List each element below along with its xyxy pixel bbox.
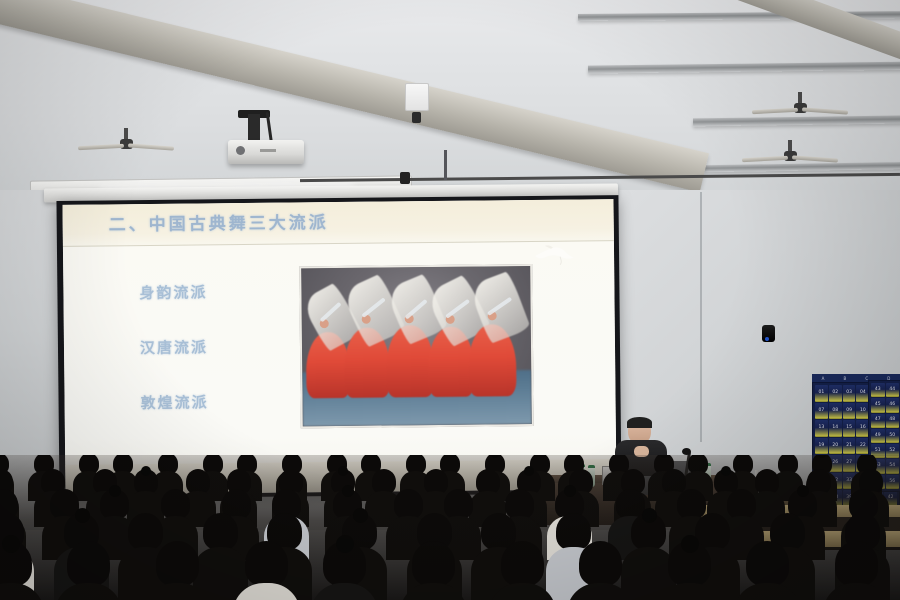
key-cabinet-cell[interactable]: 21 (843, 438, 856, 455)
projection-screen[interactable]: 二、中国古典舞三大流派 身韵流派 汉唐流派 敦煌流派 (56, 195, 621, 499)
key-cabinet-cell[interactable]: 46 (886, 398, 900, 412)
audience-person (579, 541, 622, 600)
ceiling-conduit (300, 173, 900, 182)
audience-person-bun (564, 485, 576, 497)
crane-graphic-icon (531, 242, 577, 268)
ceiling (0, 0, 900, 196)
audience-person (501, 541, 544, 600)
audience-person (746, 541, 789, 600)
key-cabinet-cell[interactable]: 20 (829, 438, 842, 455)
slide-bullet-list: 身韵流派 汉唐流派 敦煌流派 (139, 281, 209, 447)
key-cabinet-cell[interactable]: 13 (815, 420, 828, 437)
audience-person-head (161, 489, 190, 519)
audience-person (412, 541, 455, 600)
audience-person (156, 541, 199, 600)
key-cabinet-cell[interactable]: 03 (843, 385, 856, 402)
key-cabinet-cell[interactable]: 08 (829, 403, 842, 420)
audience-person-bun (342, 485, 354, 497)
slide-dance-photo (299, 264, 534, 428)
audience-person-bun (797, 485, 809, 497)
audience-person (835, 541, 878, 600)
audience-person (203, 513, 238, 600)
junction-box (405, 83, 429, 111)
key-cabinet-cell[interactable]: 14 (829, 420, 842, 437)
audience-person-bun (141, 466, 151, 476)
wall-mounted-speaker-icon (762, 325, 775, 342)
presentation-slide: 二、中国古典舞三大流派 身韵流派 汉唐流派 敦煌流派 (62, 199, 616, 495)
ceiling-conduit (444, 150, 447, 180)
audience-person-bun (109, 485, 121, 497)
key-cabinet-cell[interactable]: 09 (843, 403, 856, 420)
lecturer-hair (627, 417, 652, 428)
key-cabinet-cell[interactable]: 49 (871, 429, 885, 443)
slide-bullet-2: 汉唐流派 (140, 336, 208, 358)
audience-person-bun (338, 466, 348, 476)
projector-lens-icon (236, 146, 245, 155)
microphone-icon (682, 448, 691, 455)
wall-seam (700, 192, 702, 442)
diagonal-support-beam (0, 0, 709, 192)
audience-person (67, 541, 110, 600)
slide-bullet-1: 身韵流派 (139, 281, 207, 303)
audience-person-bun (75, 508, 90, 523)
audience-person-head (156, 541, 199, 586)
ceiling-mounted-projector (228, 140, 304, 164)
lecture-hall-scene: 二、中国古典舞三大流派 身韵流派 汉唐流派 敦煌流派 (0, 0, 900, 600)
projector-mount (248, 114, 260, 142)
audience-person (668, 541, 711, 600)
audience-person-head (727, 489, 756, 519)
key-cabinet-cell[interactable]: 15 (843, 420, 856, 437)
ceiling-beam (704, 151, 900, 172)
key-cabinet-cell[interactable]: 01 (815, 385, 828, 402)
key-cabinet-cell[interactable]: 50 (886, 429, 900, 443)
audience-person-bun (336, 535, 354, 553)
key-cabinet-cell[interactable]: 48 (886, 414, 900, 428)
key-cabinet-cell[interactable]: 44 (886, 383, 900, 397)
audience-person (0, 541, 32, 600)
key-cabinet-cell[interactable]: 47 (871, 414, 885, 428)
audience-person-head (412, 541, 455, 586)
audience-person (323, 541, 366, 600)
key-cabinet-cell[interactable]: 43 (871, 383, 885, 397)
audience-person-bun (2, 535, 20, 553)
conduit-fitting (400, 172, 410, 184)
audience-person-head (203, 513, 238, 550)
key-cabinet-cell[interactable]: 45 (871, 398, 885, 412)
key-cabinet-cell[interactable]: 07 (815, 403, 828, 420)
audience-person-head (501, 541, 544, 586)
audience-person (631, 513, 666, 600)
audience-person-head (835, 541, 878, 586)
audience-seating: YOUNG (0, 455, 900, 600)
audience-person-bun (642, 508, 657, 523)
audience-person-bun (353, 508, 368, 523)
audience-person-head (746, 541, 789, 586)
ceiling-sensor-icon (412, 112, 421, 123)
key-cabinet-cell[interactable]: 02 (829, 385, 842, 402)
key-cabinet-cell[interactable]: 19 (815, 438, 828, 455)
slide-title: 二、中国古典舞三大流派 (109, 208, 329, 235)
ceiling-beam (588, 54, 900, 73)
audience-person-head (67, 541, 110, 586)
audience-person (245, 541, 288, 600)
audience-person-bun (524, 466, 534, 476)
slide-bullet-3: 敦煌流派 (140, 391, 208, 413)
audience-person-bun (721, 466, 731, 476)
audience-person-head (245, 541, 288, 586)
audience-person-head (579, 541, 622, 586)
audience-person-bun (681, 535, 699, 553)
screen-surface: 二、中国古典舞三大流派 身韵流派 汉唐流派 敦煌流派 (62, 199, 616, 495)
key-cabinet-column-label: A (822, 376, 825, 381)
key-cabinet-column-label: B (843, 376, 846, 381)
